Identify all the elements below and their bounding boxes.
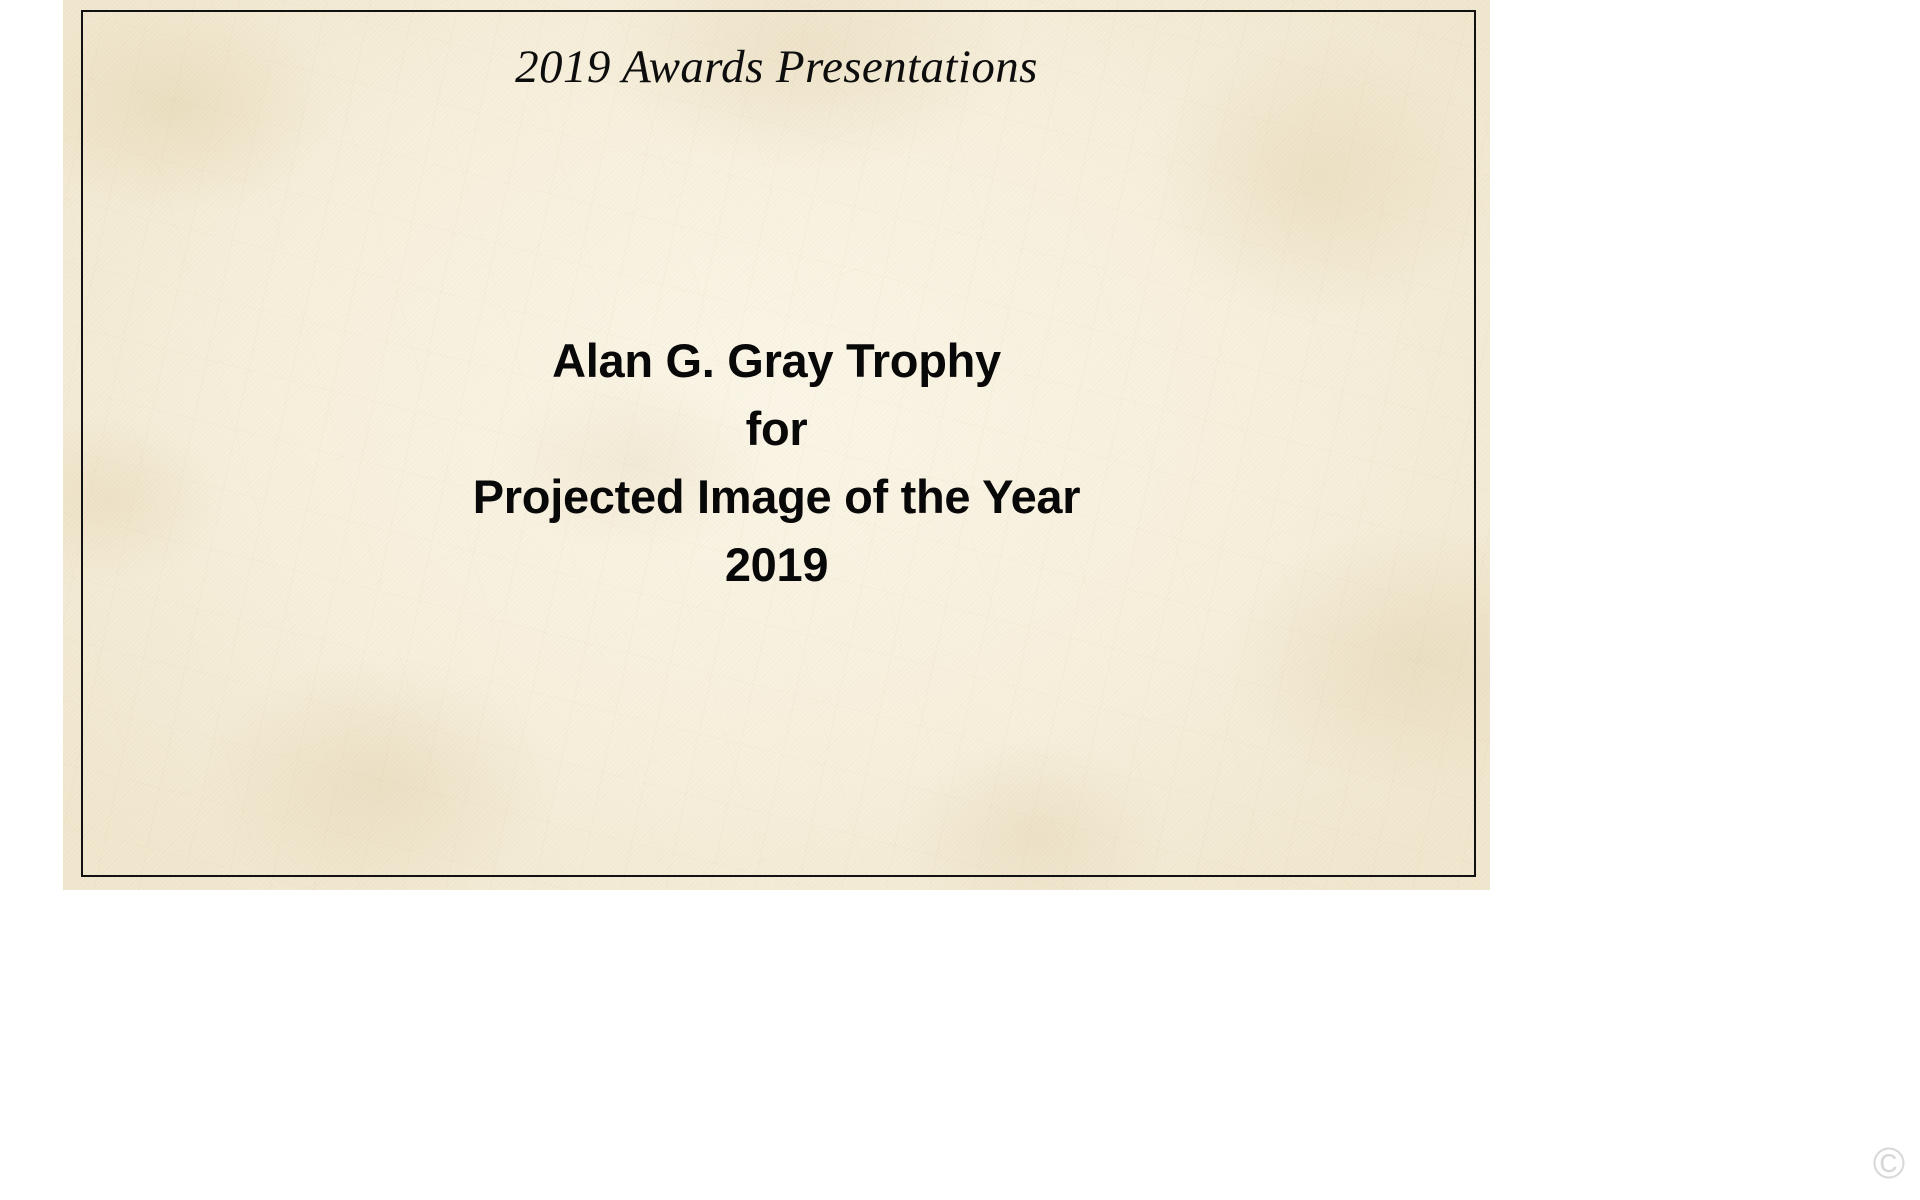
- body-line-year: 2019: [227, 531, 1327, 599]
- body-line-connector: for: [227, 395, 1327, 463]
- body-line-award-name: Alan G. Gray Trophy: [227, 327, 1327, 395]
- slide-body-text: Alan G. Gray Trophy for Projected Image …: [227, 327, 1327, 599]
- presentation-slide: 2019 Awards Presentations Alan G. Gray T…: [63, 0, 1490, 890]
- slide-title: 2019 Awards Presentations: [63, 40, 1490, 94]
- copyright-icon: ©: [1866, 1142, 1912, 1188]
- body-line-category: Projected Image of the Year: [227, 463, 1327, 531]
